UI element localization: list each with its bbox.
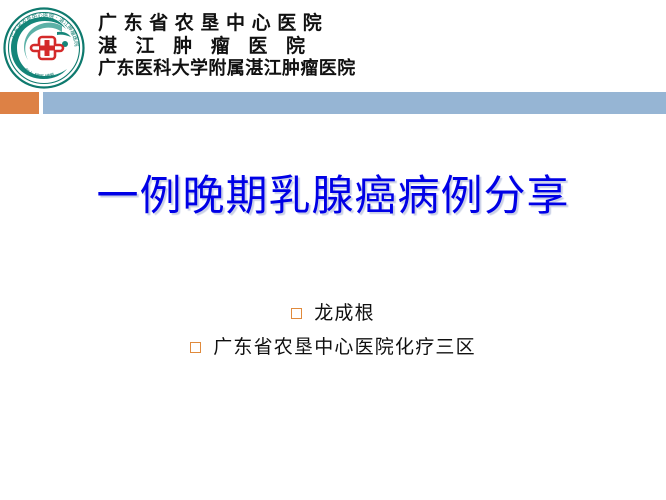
slide-header: 广东省农垦中心医院 · 湛江肿瘤医院 仁心·精医·博爱 广东省农垦中心医院 湛江… [0,0,666,92]
hospital-name-block: 广东省农垦中心医院 湛江肿瘤医院 广东医科大学附属湛江肿瘤医院 [98,12,638,80]
slide-bullet-list: 龙成根 广东省农垦中心医院化疗三区 [0,300,666,368]
accent-bar-blue [43,92,666,114]
slide-title-area: 一例晚期乳腺癌病例分享 [0,170,666,222]
hospital-name-line-1: 广东省农垦中心医院 [98,12,638,35]
svg-text:仁心·精医·博爱: 仁心·精医·博爱 [23,67,56,81]
list-item: 广东省农垦中心医院化疗三区 [0,334,666,360]
hospital-name-line-2: 湛江肿瘤医院 [98,35,638,58]
square-bullet-icon [291,308,302,319]
accent-bar-orange [0,92,39,114]
presenter-name: 龙成根 [314,300,375,326]
list-item: 龙成根 [0,300,666,326]
presenter-affiliation: 广东省农垦中心医院化疗三区 [213,334,476,360]
presentation-slide: 广东省农垦中心医院 · 湛江肿瘤医院 仁心·精医·博爱 广东省农垦中心医院 湛江… [0,0,666,500]
hospital-name-line-3: 广东医科大学附属湛江肿瘤医院 [98,58,638,80]
hospital-emblem-logo: 广东省农垦中心医院 · 湛江肿瘤医院 仁心·精医·博爱 [2,6,86,90]
square-bullet-icon [190,342,201,353]
page-title: 一例晚期乳腺癌病例分享 [96,170,569,222]
